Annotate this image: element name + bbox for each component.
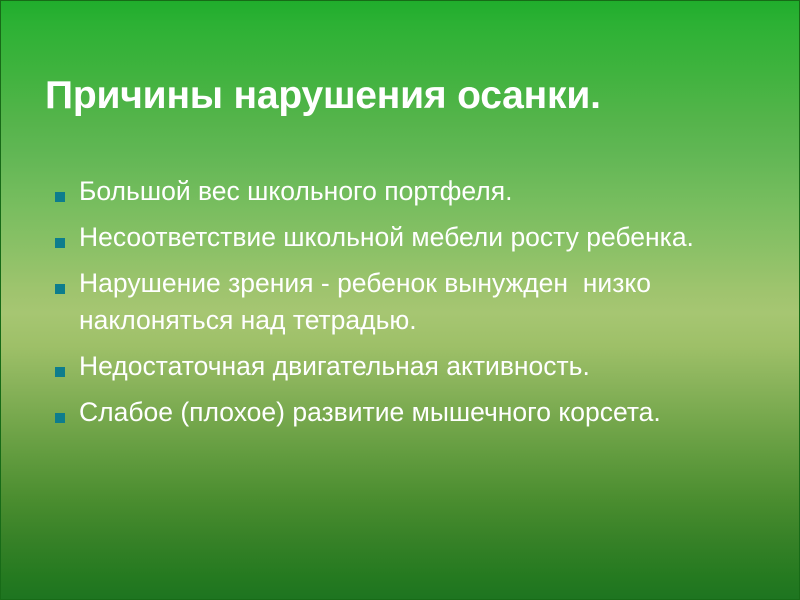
bullet-item: Несоответствие школьной мебели росту реб… — [45, 219, 771, 256]
bullet-list: Большой вес школьного портфеля. Несоотве… — [45, 173, 771, 431]
bullet-item-label: Слабое (плохое) развитие мышечного корсе… — [79, 394, 771, 431]
slide-title: Причины нарушения осанки. — [45, 73, 757, 119]
bullet-item-label: Нарушение зрения - ребенок вынужден низк… — [79, 265, 771, 339]
square-bullet-icon — [55, 192, 65, 202]
square-bullet-icon — [55, 413, 65, 423]
square-bullet-icon — [55, 238, 65, 248]
presentation-slide: Причины нарушения осанки. Большой вес шк… — [0, 0, 800, 600]
square-bullet-icon — [55, 367, 65, 377]
bullet-item-label: Несоответствие школьной мебели росту реб… — [79, 219, 771, 256]
bullet-item-label: Недостаточная двигательная активность. — [79, 348, 771, 385]
square-bullet-icon — [55, 284, 65, 294]
bullet-item-label: Большой вес школьного портфеля. — [79, 173, 771, 210]
bullet-item: Слабое (плохое) развитие мышечного корсе… — [45, 394, 771, 431]
bullet-item: Недостаточная двигательная активность. — [45, 348, 771, 385]
bullet-item: Большой вес школьного портфеля. — [45, 173, 771, 210]
bullet-item: Нарушение зрения - ребенок вынужден низк… — [45, 265, 771, 339]
